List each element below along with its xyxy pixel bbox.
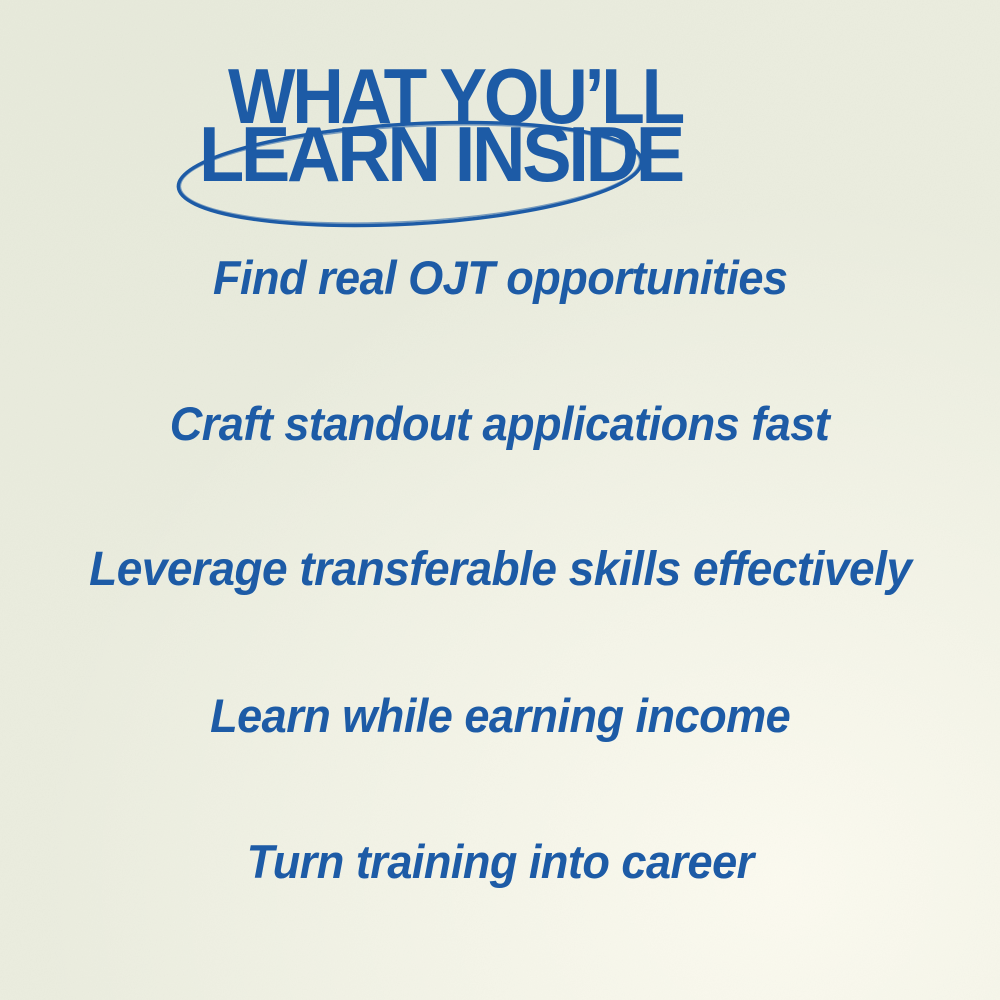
bullet-item-1-label: Find real OJT opportunities: [213, 254, 787, 301]
bullet-list: Find real OJT opportunities Craft stando…: [0, 0, 1000, 1000]
bullet-item-2-label: Craft standout applications fast: [170, 400, 830, 447]
bullet-item-5-label: Turn training into career: [246, 838, 753, 885]
bullet-item-3: Leverage transferable skills effectively: [0, 546, 1000, 594]
bullet-item-4: Learn while earning income: [0, 692, 1000, 739]
bullet-item-2: Craft standout applications fast: [0, 400, 1000, 447]
bullet-item-4-label: Learn while earning income: [210, 692, 790, 739]
bullet-item-3-label: Leverage transferable skills effectively: [89, 546, 911, 594]
bullet-item-1: Find real OJT opportunities: [0, 254, 1000, 301]
bullet-item-5: Turn training into career: [0, 838, 1000, 885]
poster-canvas: WHAT YOU’LL LEARN INSIDE Find real OJT o…: [0, 0, 1000, 1000]
